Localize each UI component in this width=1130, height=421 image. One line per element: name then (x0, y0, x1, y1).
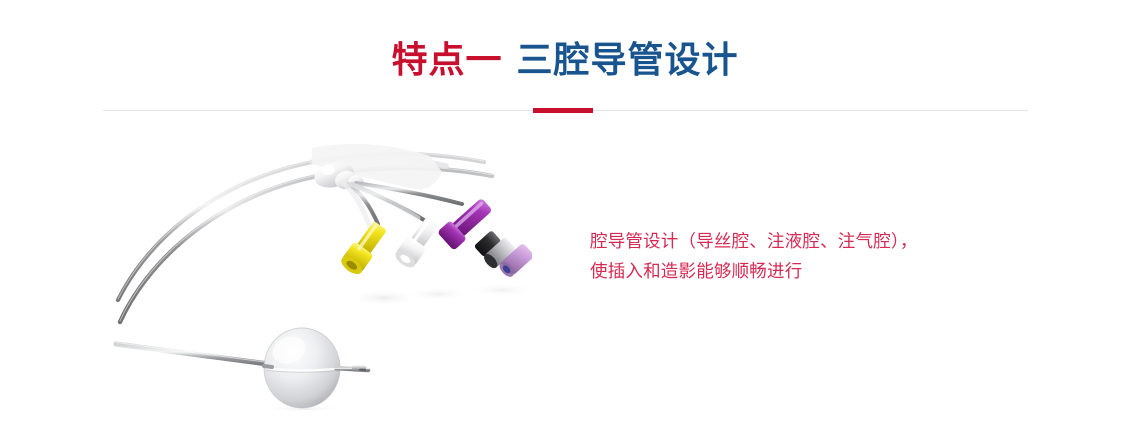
feature-slide: 特点一三腔导管设计 (0, 0, 1130, 421)
divider-accent-bar (533, 108, 593, 113)
description-line-2: 使插入和造影能够顺畅进行 (590, 256, 990, 286)
port-connector-purple (437, 195, 532, 280)
product-image (112, 132, 532, 410)
description-line-1: 腔导管设计（导丝腔、注液腔、注气腔）， (590, 226, 990, 256)
page-title-main: 三腔导管设计 (517, 39, 739, 80)
port-connector-white (392, 214, 442, 271)
port-connector-yellow (338, 219, 390, 278)
title-divider (103, 108, 1028, 114)
feature-description: 腔导管设计（导丝腔、注液腔、注气腔）， 使插入和造影能够顺畅进行 (590, 226, 990, 286)
balloon-catheter (116, 328, 368, 410)
page-title-accent: 特点一 (391, 39, 502, 80)
page-title: 特点一三腔导管设计 (0, 42, 1130, 78)
catheter-branch-tubes (342, 182, 462, 228)
